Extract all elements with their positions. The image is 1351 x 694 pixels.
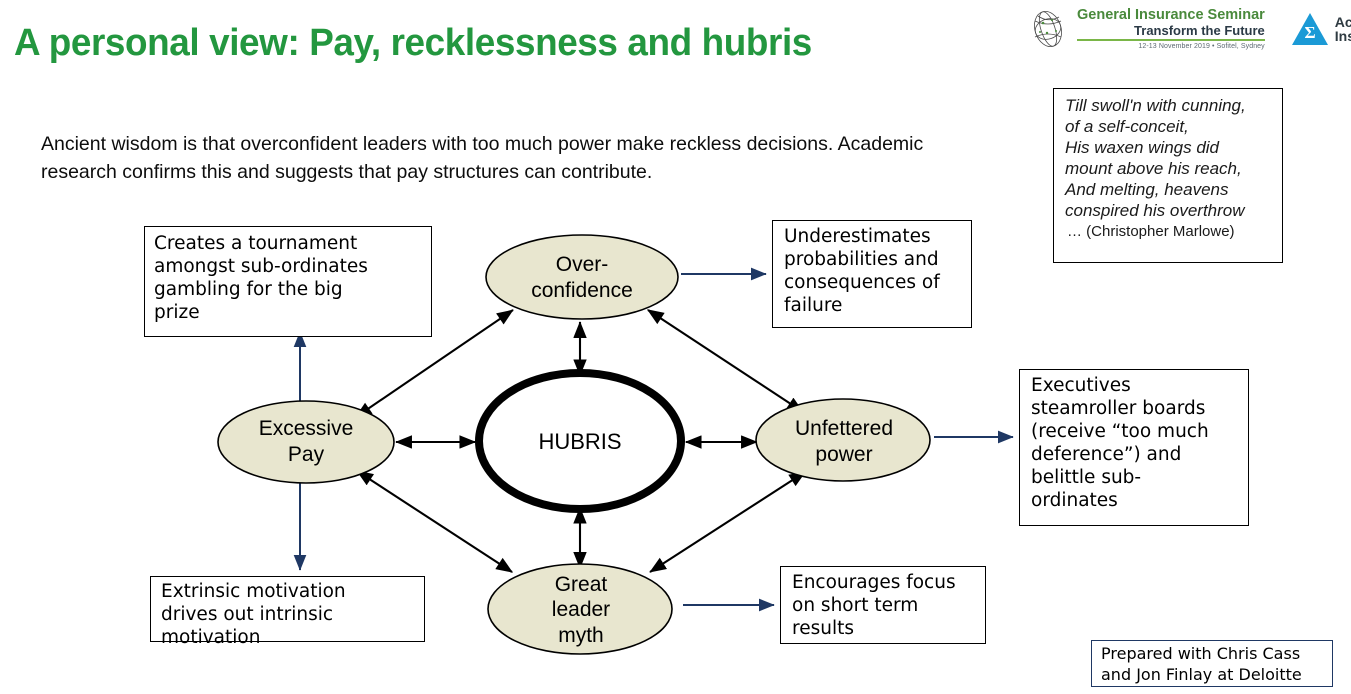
arrow-greatleader-excessivepay bbox=[357, 471, 512, 572]
callout-tournament: Creates a tournament amongst sub-ordinat… bbox=[144, 226, 432, 337]
callout-underestimates: Underestimates probabilities and consequ… bbox=[772, 220, 972, 328]
node-unfettered-power[interactable] bbox=[756, 399, 930, 481]
node-excessive-pay[interactable] bbox=[218, 401, 394, 483]
arrow-unfetteredpower-greatleader bbox=[650, 472, 805, 572]
callout-extrinsic-motivation: Extrinsic motivation drives out intrinsi… bbox=[150, 576, 425, 642]
callout-encourages-short-term: Encourages focus on short term results bbox=[780, 566, 986, 644]
callout-executives: Executives steamroller boards (receive “… bbox=[1019, 369, 1249, 526]
node-hubris[interactable] bbox=[479, 373, 681, 509]
node-great-leader-myth[interactable] bbox=[488, 564, 672, 654]
node-overconfidence[interactable] bbox=[486, 235, 678, 319]
credit-box: Prepared with Chris Cass and Jon Finlay … bbox=[1091, 640, 1333, 687]
